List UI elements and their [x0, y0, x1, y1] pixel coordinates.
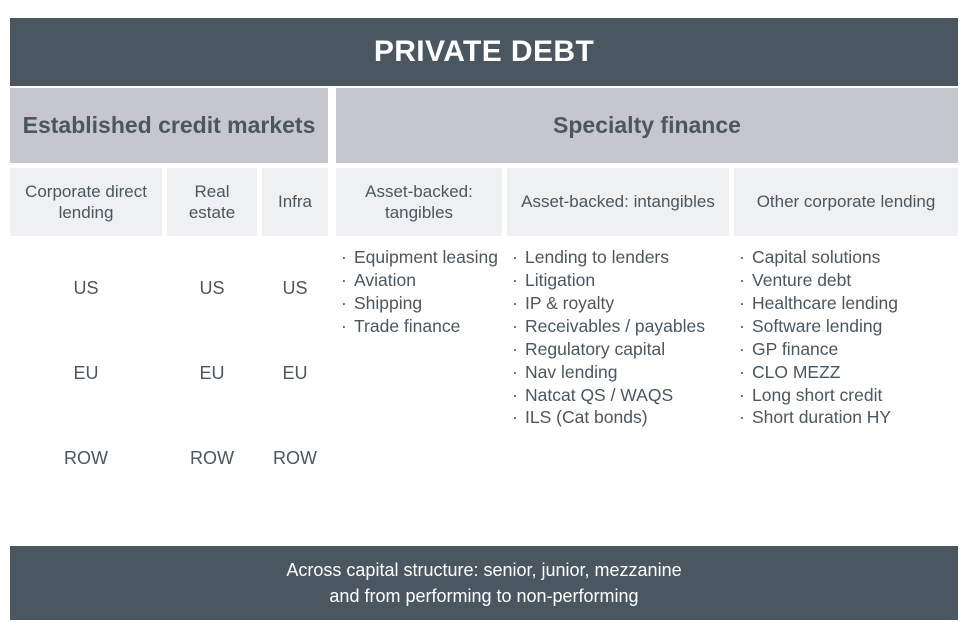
bullet-list-other-corporate: ·Capital solutions ·Venture debt ·Health… — [734, 240, 958, 429]
list-item: ·IP & royalty — [511, 292, 729, 315]
list-item-label: Short duration HY — [752, 407, 891, 427]
list-item: ·Healthcare lending — [738, 292, 958, 315]
list-item-label: Natcat QS / WAQS — [525, 385, 673, 405]
region-list: US EU ROW — [262, 240, 328, 500]
column-header-row: Corporate direct lending Real estate Inf… — [10, 168, 958, 236]
list-item-label: Shipping — [354, 293, 422, 313]
region-item: ROW — [10, 415, 162, 500]
list-item-label: Aviation — [354, 270, 416, 290]
body-row: US EU ROW US EU ROW US EU ROW ·Equipment… — [10, 240, 958, 536]
column-header-real-estate: Real estate — [167, 168, 257, 236]
region-item: US — [167, 246, 257, 331]
region-item: EU — [10, 331, 162, 416]
bullet-icon: · — [512, 384, 518, 407]
region-item: EU — [167, 331, 257, 416]
bullet-icon: · — [739, 292, 745, 315]
title-bar: PRIVATE DEBT — [10, 18, 958, 86]
group-band-row: Established credit markets Specialty fin… — [10, 88, 958, 163]
list-item: ·Long short credit — [738, 384, 958, 407]
list-item-label: Healthcare lending — [752, 293, 898, 313]
bullet-icon: · — [341, 315, 347, 338]
bullet-icon: · — [739, 315, 745, 338]
list-item-label: Receivables / payables — [525, 316, 705, 336]
group-band-label: Established credit markets — [23, 112, 316, 138]
list-item-label: Long short credit — [752, 385, 882, 405]
body-column-corporate-direct-lending: US EU ROW — [10, 240, 162, 536]
group-band-established-credit-markets: Established credit markets — [10, 88, 328, 163]
bullet-icon: · — [512, 406, 518, 429]
list-item: ·Shipping — [340, 292, 502, 315]
list-item: ·Receivables / payables — [511, 315, 729, 338]
region-list: US EU ROW — [167, 240, 257, 500]
list-item-label: Regulatory capital — [525, 339, 665, 359]
column-header-label: Real estate — [173, 181, 251, 224]
list-item-label: Trade finance — [354, 316, 460, 336]
list-item-label: Lending to lenders — [525, 247, 669, 267]
body-column-asset-backed-intangibles: ·Lending to lenders ·Litigation ·IP & ro… — [507, 240, 729, 536]
region-list: US EU ROW — [10, 240, 162, 500]
bullet-icon: · — [739, 269, 745, 292]
body-column-real-estate: US EU ROW — [167, 240, 257, 536]
list-item: ·Trade finance — [340, 315, 502, 338]
region-item: ROW — [262, 415, 328, 500]
bullet-icon: · — [341, 292, 347, 315]
list-item: ·ILS (Cat bonds) — [511, 406, 729, 429]
list-item: ·Software lending — [738, 315, 958, 338]
list-item: ·Lending to lenders — [511, 246, 729, 269]
bullet-list-intangibles: ·Lending to lenders ·Litigation ·IP & ro… — [507, 240, 729, 429]
group-band-label: Specialty finance — [553, 112, 741, 138]
body-column-infra: US EU ROW — [262, 240, 328, 536]
list-item-label: Nav lending — [525, 362, 617, 382]
bullet-icon: · — [512, 315, 518, 338]
bullet-list-tangibles: ·Equipment leasing ·Aviation ·Shipping ·… — [336, 240, 502, 338]
column-header-label: Other corporate lending — [757, 191, 936, 212]
footer-bar: Across capital structure: senior, junior… — [10, 546, 958, 620]
bullet-icon: · — [512, 246, 518, 269]
bullet-icon: · — [512, 292, 518, 315]
bullet-icon: · — [512, 269, 518, 292]
column-header-corporate-direct-lending: Corporate direct lending — [10, 168, 162, 236]
list-item: ·GP finance — [738, 338, 958, 361]
body-column-other-corporate-lending: ·Capital solutions ·Venture debt ·Health… — [734, 240, 958, 536]
list-item: ·Aviation — [340, 269, 502, 292]
bullet-icon: · — [739, 361, 745, 384]
list-item-label: IP & royalty — [525, 293, 614, 313]
column-header-infra: Infra — [262, 168, 328, 236]
list-item: ·CLO MEZZ — [738, 361, 958, 384]
bullet-icon: · — [512, 338, 518, 361]
region-item: US — [10, 246, 162, 331]
bullet-icon: · — [739, 338, 745, 361]
body-column-asset-backed-tangibles: ·Equipment leasing ·Aviation ·Shipping ·… — [336, 240, 502, 536]
bullet-icon: · — [739, 246, 745, 269]
region-item: ROW — [167, 415, 257, 500]
list-item-label: ILS (Cat bonds) — [525, 407, 648, 427]
footer-line-2: and from performing to non-performing — [329, 583, 638, 609]
group-band-specialty-finance: Specialty finance — [336, 88, 958, 163]
list-item: ·Equipment leasing — [340, 246, 502, 269]
list-item: ·Natcat QS / WAQS — [511, 384, 729, 407]
list-item: ·Capital solutions — [738, 246, 958, 269]
private-debt-infographic: PRIVATE DEBT Established credit markets … — [0, 0, 964, 635]
list-item-label: Capital solutions — [752, 247, 880, 267]
region-item: US — [262, 246, 328, 331]
list-item: ·Nav lending — [511, 361, 729, 384]
column-header-asset-backed-intangibles: Asset-backed: intangibles — [507, 168, 729, 236]
column-header-label: Asset-backed: tangibles — [342, 181, 496, 224]
column-header-label: Infra — [278, 191, 312, 212]
footer-line-1: Across capital structure: senior, junior… — [286, 557, 681, 583]
column-header-other-corporate-lending: Other corporate lending — [734, 168, 958, 236]
column-header-label: Asset-backed: intangibles — [521, 191, 715, 212]
list-item-label: Venture debt — [752, 270, 851, 290]
list-item: ·Litigation — [511, 269, 729, 292]
list-item-label: Software lending — [752, 316, 882, 336]
list-item: ·Venture debt — [738, 269, 958, 292]
bullet-icon: · — [341, 246, 347, 269]
page-title: PRIVATE DEBT — [374, 37, 594, 67]
column-header-label: Corporate direct lending — [16, 181, 156, 224]
list-item-label: CLO MEZZ — [752, 362, 840, 382]
list-item-label: Equipment leasing — [354, 247, 498, 267]
list-item-label: Litigation — [525, 270, 595, 290]
list-item: ·Short duration HY — [738, 406, 958, 429]
region-item: EU — [262, 331, 328, 416]
bullet-icon: · — [512, 361, 518, 384]
list-item-label: GP finance — [752, 339, 838, 359]
column-header-asset-backed-tangibles: Asset-backed: tangibles — [336, 168, 502, 236]
list-item: ·Regulatory capital — [511, 338, 729, 361]
bullet-icon: · — [341, 269, 347, 292]
bullet-icon: · — [739, 406, 745, 429]
bullet-icon: · — [739, 384, 745, 407]
